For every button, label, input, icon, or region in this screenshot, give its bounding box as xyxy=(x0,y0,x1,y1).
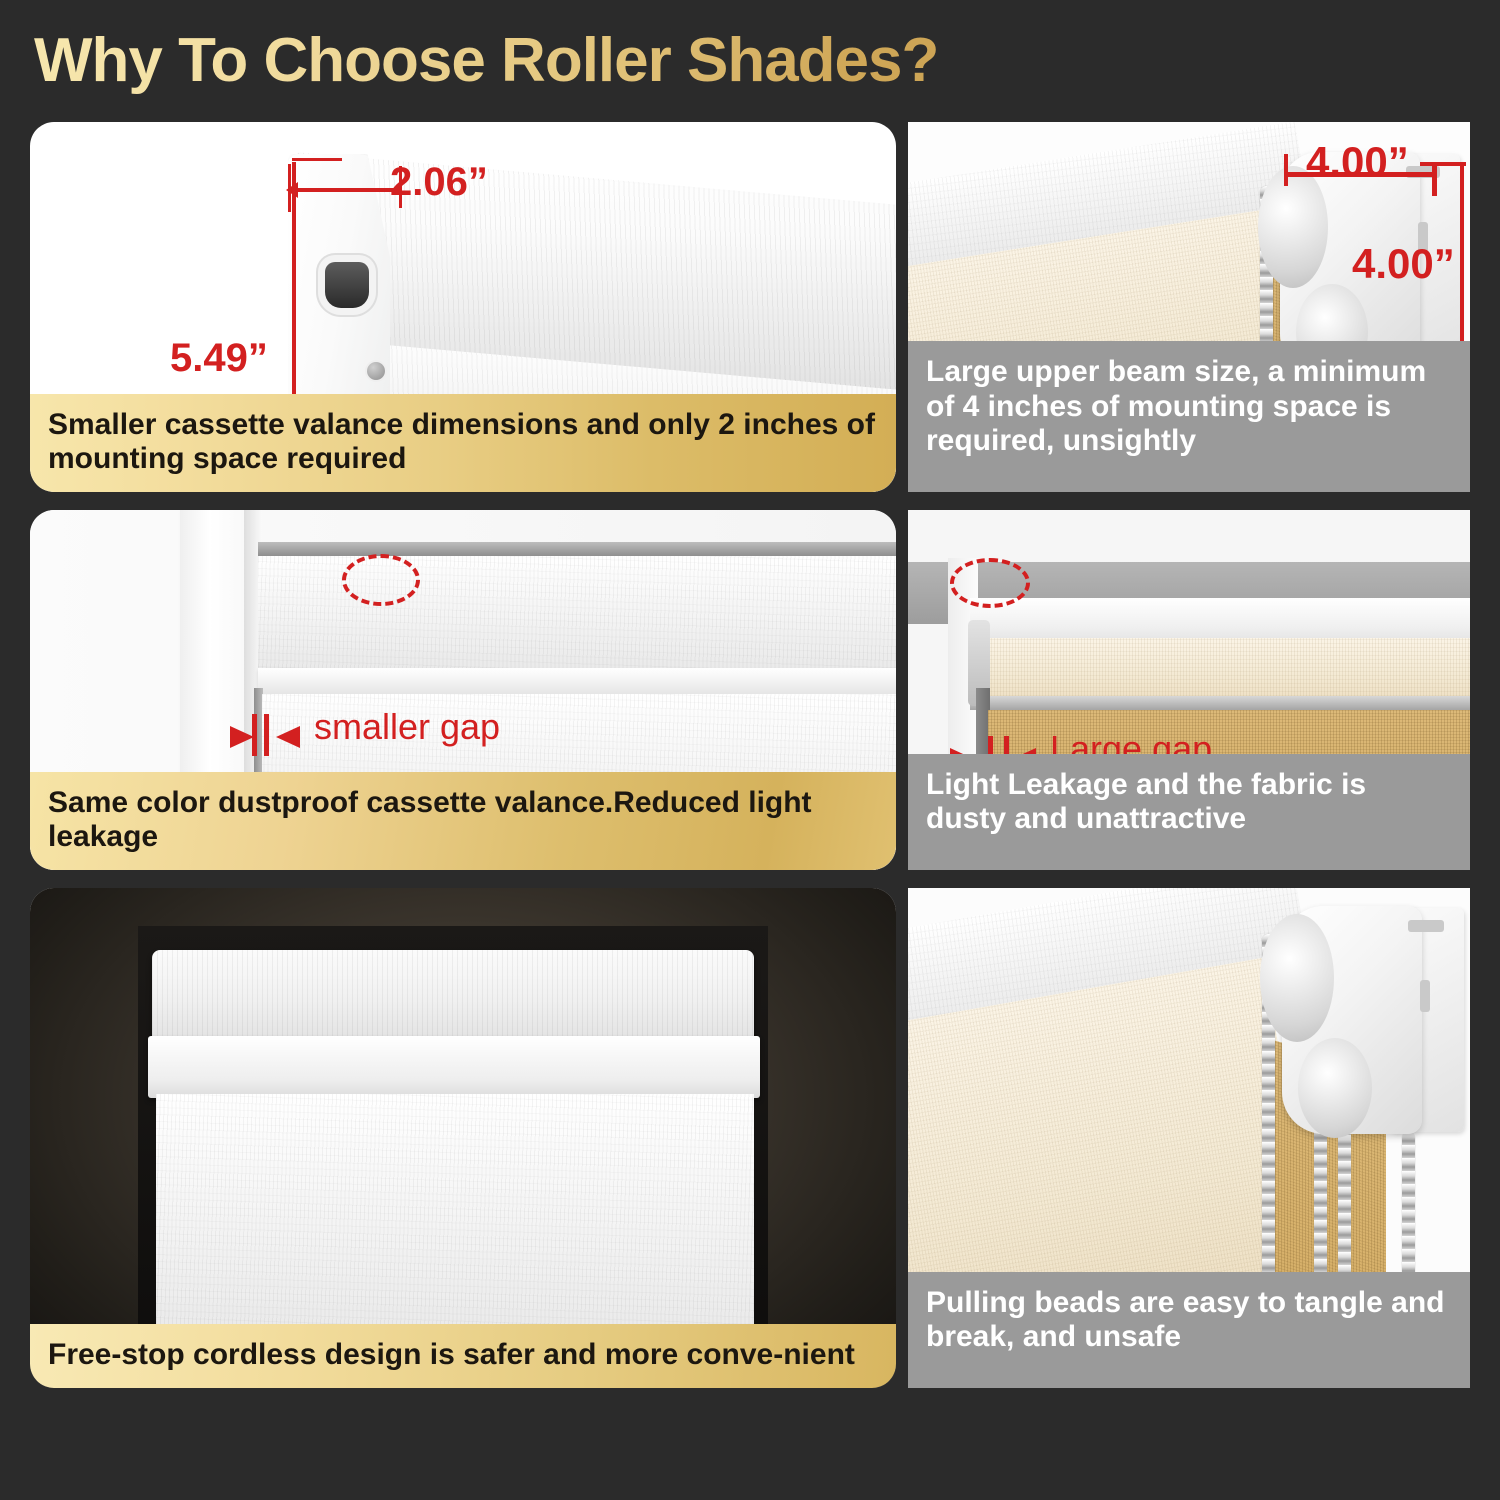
highlight-circle-seam xyxy=(342,554,420,606)
dim-line-width xyxy=(290,188,402,192)
cassette-slot xyxy=(325,262,369,308)
dimension-label-width: 2.06” xyxy=(390,160,488,205)
gap-arrow-right xyxy=(276,726,300,748)
panel-bad-beads: Pulling beads are easy to tangle and bre… xyxy=(908,888,1470,1388)
dim-tick-beam-right xyxy=(1432,164,1437,196)
roller-disc-outer xyxy=(1260,914,1334,1042)
caption-good-small-gap: Same color dustproof cassette valance.Re… xyxy=(30,772,896,870)
product-photo-room-window xyxy=(30,888,896,1388)
caption-bad-beam-size: Large upper beam size, a minimum of 4 in… xyxy=(908,341,1470,492)
cassette-screw-upper xyxy=(367,362,385,380)
highlight-circle-corner xyxy=(950,558,1030,608)
dim-tick-beam-left xyxy=(1284,154,1288,186)
caption-bad-large-gap: Light Leakage and the fabric is dusty an… xyxy=(908,754,1470,870)
panel-good-cassette-size: 2.06” 5.49” Smaller cassette valance dim… xyxy=(30,122,896,492)
panel-bad-beam-size: 4.00” 4.00” Large upper beam size, a min… xyxy=(908,122,1470,492)
dimension-label-beam-width: 4.00” xyxy=(1306,138,1409,186)
gap-label-smaller: smaller gap xyxy=(314,706,500,748)
panel-good-cordless: Free-stop cordless design is safer and m… xyxy=(30,888,896,1388)
bracket-notch-top xyxy=(1408,920,1444,932)
shade-fabric-cream xyxy=(970,638,1470,700)
cassette-valance xyxy=(152,950,754,1042)
bracket-notch-mid xyxy=(1420,980,1430,1012)
panel-bad-large-gap: Large gap Light Leakage and the fabric i… xyxy=(908,510,1470,870)
panel-good-small-gap: smaller gap Same color dustproof cassett… xyxy=(30,510,896,870)
cassette-headrail xyxy=(258,542,896,556)
dimension-label-height: 5.49” xyxy=(170,336,268,381)
dimension-label-beam-height: 4.00” xyxy=(1352,240,1455,288)
cassette-lip xyxy=(258,668,896,694)
dim-arrow-left xyxy=(286,182,298,198)
roller-disc-lower xyxy=(1298,1038,1372,1138)
gap-arrow-left xyxy=(230,726,254,748)
cassette-valance-lip xyxy=(148,1036,760,1098)
shade-rail xyxy=(970,696,1470,710)
shade-fabric xyxy=(156,1094,754,1346)
page-title: Why To Choose Roller Shades? xyxy=(34,20,1054,102)
dim-line-beam-height xyxy=(1460,164,1464,366)
caption-good-cordless: Free-stop cordless design is safer and m… xyxy=(30,1324,896,1388)
gap-tick-b xyxy=(264,714,269,756)
dim-ext-top xyxy=(292,158,342,161)
caption-good-cassette-size: Smaller cassette valance dimensions and … xyxy=(30,394,896,492)
caption-bad-beads: Pulling beads are easy to tangle and bre… xyxy=(908,1272,1470,1388)
